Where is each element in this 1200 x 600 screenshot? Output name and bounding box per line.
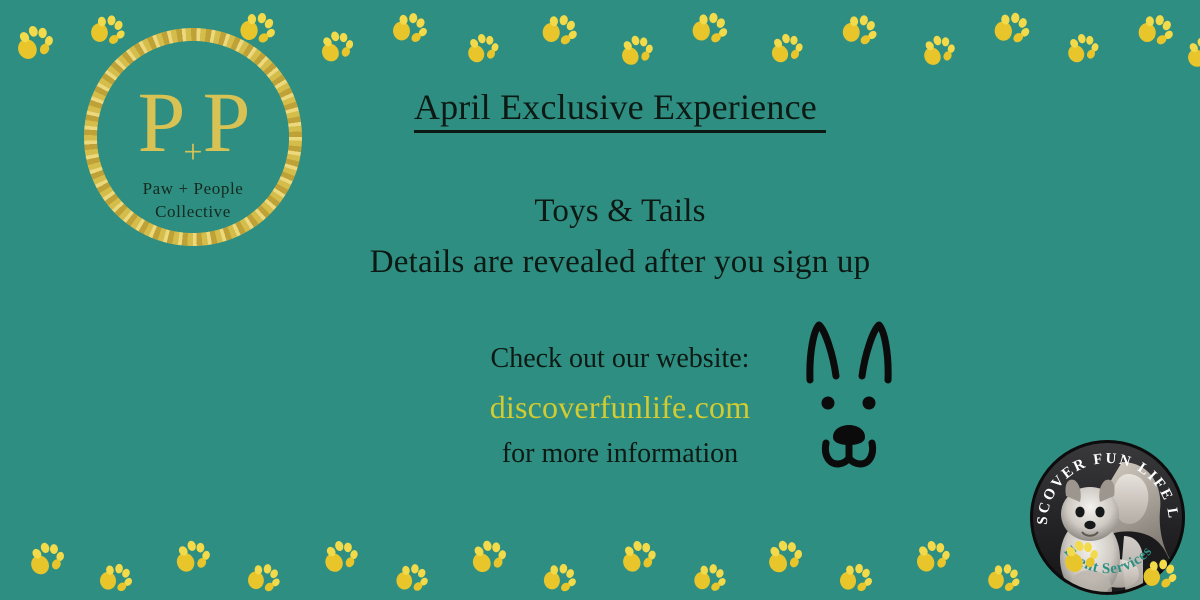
logo-inner-disc: P+P Paw + People Collective xyxy=(97,41,289,233)
paw-print-icon xyxy=(318,532,365,579)
paw-print-icon xyxy=(1062,26,1104,68)
paw-print-icon xyxy=(314,22,360,68)
paw-print-icon xyxy=(537,5,585,53)
paw-print-icon xyxy=(910,532,955,577)
paw-print-icon xyxy=(170,532,216,578)
logo-monogram-p-left: P xyxy=(138,74,184,170)
paw-print-icon xyxy=(537,5,585,53)
event-subject: Toys & Tails xyxy=(310,193,930,230)
paw-print-icon xyxy=(243,555,288,600)
paw-print-icon xyxy=(539,555,584,600)
paw-print-icon xyxy=(462,26,504,68)
paw-border-bottom xyxy=(0,522,1200,592)
dog-ear-right-icon xyxy=(862,325,888,380)
logo-name-line-2: Collective xyxy=(155,202,231,222)
paw-print-icon xyxy=(689,555,732,598)
paw-people-collective-logo: P+P Paw + People Collective xyxy=(84,28,302,246)
logo-monogram-p-right: P xyxy=(203,74,249,170)
paw-print-icon xyxy=(766,26,808,68)
logo-monogram-plus: + xyxy=(183,134,202,171)
paw-print-icon xyxy=(23,533,71,581)
paw-print-icon xyxy=(615,27,659,71)
paw-print-icon xyxy=(1181,29,1200,73)
paw-print-icon xyxy=(392,556,434,598)
dog-eye-left-icon xyxy=(822,397,835,410)
paw-print-icon xyxy=(837,5,885,53)
page-title-wrap: April Exclusive Experience xyxy=(310,86,930,133)
paw-print-icon xyxy=(689,555,732,598)
paw-print-icon xyxy=(766,26,808,68)
paw-print-icon xyxy=(170,532,216,578)
paw-print-icon xyxy=(1062,26,1104,68)
paw-print-icon xyxy=(95,555,139,599)
paw-print-icon xyxy=(392,556,434,598)
paw-print-icon xyxy=(761,531,809,579)
logo-monogram: P+P xyxy=(138,79,249,165)
paw-print-icon xyxy=(989,3,1036,50)
paw-print-icon xyxy=(835,555,879,599)
paw-print-icon xyxy=(837,5,885,53)
paw-print-icon xyxy=(917,27,961,71)
paw-print-icon xyxy=(243,555,288,600)
paw-print-icon xyxy=(835,555,879,599)
paw-print-icon xyxy=(10,16,60,66)
paw-print-icon xyxy=(616,532,662,578)
paw-print-icon xyxy=(388,4,434,50)
paw-print-icon xyxy=(539,555,584,600)
flyer-canvas: P+P Paw + People Collective April Exclus… xyxy=(0,0,1200,600)
dog-face-illustration xyxy=(788,312,910,472)
discover-fun-life-llc-badge[interactable]: DISCOVER FUN LIFE LLC Event Services xyxy=(1030,440,1185,595)
paw-print-icon xyxy=(465,531,512,578)
paw-print-icon xyxy=(687,3,735,51)
dog-smile-left-icon xyxy=(825,443,849,464)
paw-print-icon xyxy=(1133,5,1181,53)
paw-print-icon xyxy=(687,3,735,51)
paw-print-icon xyxy=(1133,5,1181,53)
paw-print-icon xyxy=(989,3,1036,50)
logo-name-line-1: Paw + People xyxy=(143,179,244,199)
paw-print-icon xyxy=(23,533,71,581)
paw-print-icon xyxy=(314,22,360,68)
paw-print-icon xyxy=(616,532,662,578)
paw-print-icon xyxy=(917,27,961,71)
paw-print-icon xyxy=(318,532,365,579)
paw-print-icon xyxy=(910,532,955,577)
paw-print-icon xyxy=(615,27,659,71)
paw-print-icon xyxy=(761,531,809,579)
paw-print-icon xyxy=(388,4,434,50)
paw-print-icon xyxy=(1181,29,1200,73)
paw-print-icon xyxy=(10,16,60,66)
event-details: Details are revealed after you sign up xyxy=(310,244,930,281)
paw-print-icon xyxy=(983,555,1027,599)
paw-print-icon xyxy=(462,26,504,68)
paw-print-icon xyxy=(465,531,512,578)
paw-print-icon xyxy=(95,555,139,599)
dog-smile-right-icon xyxy=(849,443,873,464)
page-title: April Exclusive Experience xyxy=(414,86,826,133)
paw-print-icon xyxy=(983,555,1027,599)
dog-ear-left-icon xyxy=(810,325,836,380)
dog-eye-right-icon xyxy=(863,397,876,410)
